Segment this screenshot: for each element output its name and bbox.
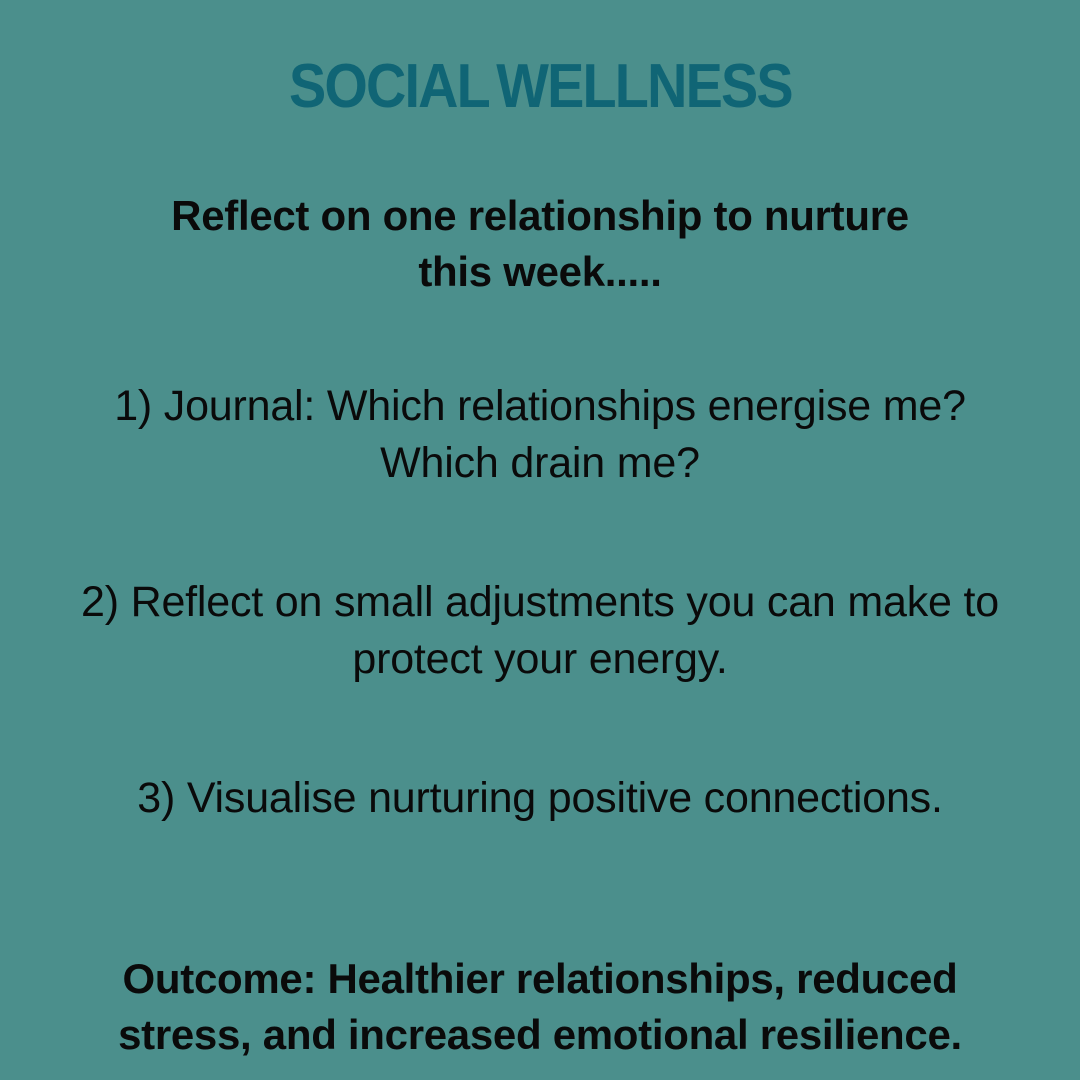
step-item-1: 1) Journal: Which relationships energise… xyxy=(90,378,990,492)
step-item-2: 2) Reflect on small adjustments you can … xyxy=(70,574,1010,688)
social-wellness-card: SOCIAL WELLNESS Reflect on one relations… xyxy=(0,0,1080,1080)
subtitle-prompt: Reflect on one relationship to nurture t… xyxy=(140,188,940,300)
content-column: Reflect on one relationship to nurture t… xyxy=(70,188,1010,1063)
step-item-3: 3) Visualise nurturing positive connecti… xyxy=(90,770,990,827)
page-title: SOCIAL WELLNESS xyxy=(289,56,792,118)
title-container: SOCIAL WELLNESS xyxy=(0,56,1080,118)
outcome-statement: Outcome: Healthier relationships, reduce… xyxy=(100,951,980,1063)
